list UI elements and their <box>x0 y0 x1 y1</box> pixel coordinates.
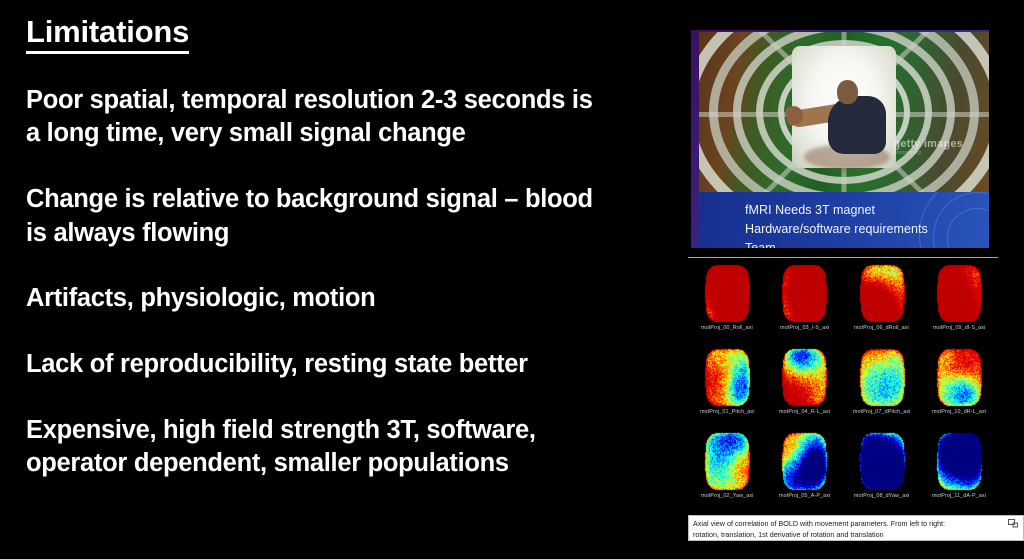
brain-image-label: motProj_02_Yaw_axi <box>701 493 753 499</box>
brain-image-canvas <box>935 263 983 323</box>
brain-axial-image <box>935 347 983 407</box>
brain-image-label: motProj_03_I-S_axi <box>780 325 829 331</box>
slide-text-column: Limitations Poor spatial, temporal resol… <box>26 14 686 481</box>
technician-body <box>828 96 886 154</box>
brain-image-label: motProj_08_dYaw_axi <box>854 493 910 499</box>
brain-image-grid-panel: motProj_00_Roll_aximotProj_03_I-S_aximot… <box>688 255 998 559</box>
brain-image-label: motProj_00_Roll_axi <box>701 325 753 331</box>
bullet-item-2: Change is relative to background signal … <box>26 183 686 250</box>
brain-image-canvas <box>780 347 828 407</box>
brain-image-cell: motProj_02_Yaw_axi <box>689 431 765 515</box>
brain-image-label: motProj_01_Pitch_axi <box>699 409 754 415</box>
brain-image-cell: motProj_03_I-S_axi <box>766 263 842 347</box>
getty-watermark-subtext: Bloomberg <box>893 151 963 156</box>
brain-image-canvas <box>780 431 828 491</box>
brain-image-grid: motProj_00_Roll_aximotProj_03_I-S_aximot… <box>688 263 998 515</box>
brain-image-canvas <box>703 263 751 323</box>
brain-image-cell: motProj_09_dI-S_axi <box>921 263 997 347</box>
resize-handle-icon[interactable] <box>1008 519 1019 528</box>
brain-image-cell: motProj_08_dYaw_axi <box>844 431 920 515</box>
brain-image-cell: motProj_01_Pitch_axi <box>689 347 765 431</box>
bullet-item-5: Expensive, high field strength 3T, softw… <box>26 414 686 481</box>
technician-head <box>837 80 858 104</box>
bullet-item-3: Artifacts, physiologic, motion <box>26 282 686 316</box>
brain-axial-image <box>703 347 751 407</box>
brain-axial-image <box>780 263 828 323</box>
bullet-item-1: Poor spatial, temporal resolution 2-3 se… <box>26 84 686 151</box>
brain-image-canvas <box>935 347 983 407</box>
brain-image-label: motProj_04_R-L_axi <box>779 409 830 415</box>
brain-image-canvas <box>703 347 751 407</box>
brain-axial-image <box>858 263 906 323</box>
brain-image-label: motProj_11_dA-P_axi <box>932 493 986 499</box>
brain-axial-image <box>780 431 828 491</box>
brain-axial-image <box>703 431 751 491</box>
figure-caption-text: Axial view of correlation of BOLD with m… <box>693 518 999 541</box>
brain-image-label: motProj_06_dRoll_axi <box>854 325 909 331</box>
brain-image-canvas <box>858 263 906 323</box>
mri-magnet-photo: getty images Bloomberg <box>699 32 989 192</box>
getty-watermark-text: getty images <box>893 138 963 150</box>
brain-image-label: motProj_07_dPitch_axi <box>853 409 911 415</box>
brain-axial-image <box>935 431 983 491</box>
brain-image-cell: motProj_05_A-P_axi <box>766 431 842 515</box>
photo-caption-text: fMRI Needs 3T magnet Hardware/software r… <box>745 201 928 248</box>
brain-axial-image <box>858 431 906 491</box>
brain-image-label: motProj_09_dI-S_axi <box>933 325 985 331</box>
grid-divider-line <box>688 257 998 258</box>
brain-image-cell: motProj_11_dA-P_axi <box>921 431 997 515</box>
brain-image-cell: motProj_07_dPitch_axi <box>844 347 920 431</box>
photo-caption-band: fMRI Needs 3T magnet Hardware/software r… <box>699 192 989 248</box>
brain-image-canvas <box>858 431 906 491</box>
mri-photo-card: getty images Bloomberg fMRI Needs 3T mag… <box>691 30 989 248</box>
brain-image-canvas <box>703 431 751 491</box>
figure-caption-box: Axial view of correlation of BOLD with m… <box>688 515 1024 541</box>
brain-axial-image <box>703 263 751 323</box>
brain-image-cell: motProj_04_R-L_axi <box>766 347 842 431</box>
brain-image-label: motProj_05_A-P_axi <box>779 493 830 499</box>
brain-image-cell: motProj_06_dRoll_axi <box>844 263 920 347</box>
brain-image-cell: motProj_00_Roll_axi <box>689 263 765 347</box>
bullet-item-4: Lack of reproducibility, resting state b… <box>26 348 686 382</box>
brain-image-canvas <box>935 431 983 491</box>
brain-image-canvas <box>858 347 906 407</box>
brain-axial-image <box>858 347 906 407</box>
brain-axial-image <box>780 347 828 407</box>
presentation-slide: Limitations Poor spatial, temporal resol… <box>0 0 1024 559</box>
brain-image-label: motProj_10_dR-L_axi <box>932 409 986 415</box>
getty-watermark: getty images Bloomberg <box>893 139 963 156</box>
brain-image-canvas <box>780 263 828 323</box>
page-title: Limitations <box>26 14 189 54</box>
brain-axial-image <box>935 263 983 323</box>
brain-image-cell: motProj_10_dR-L_axi <box>921 347 997 431</box>
